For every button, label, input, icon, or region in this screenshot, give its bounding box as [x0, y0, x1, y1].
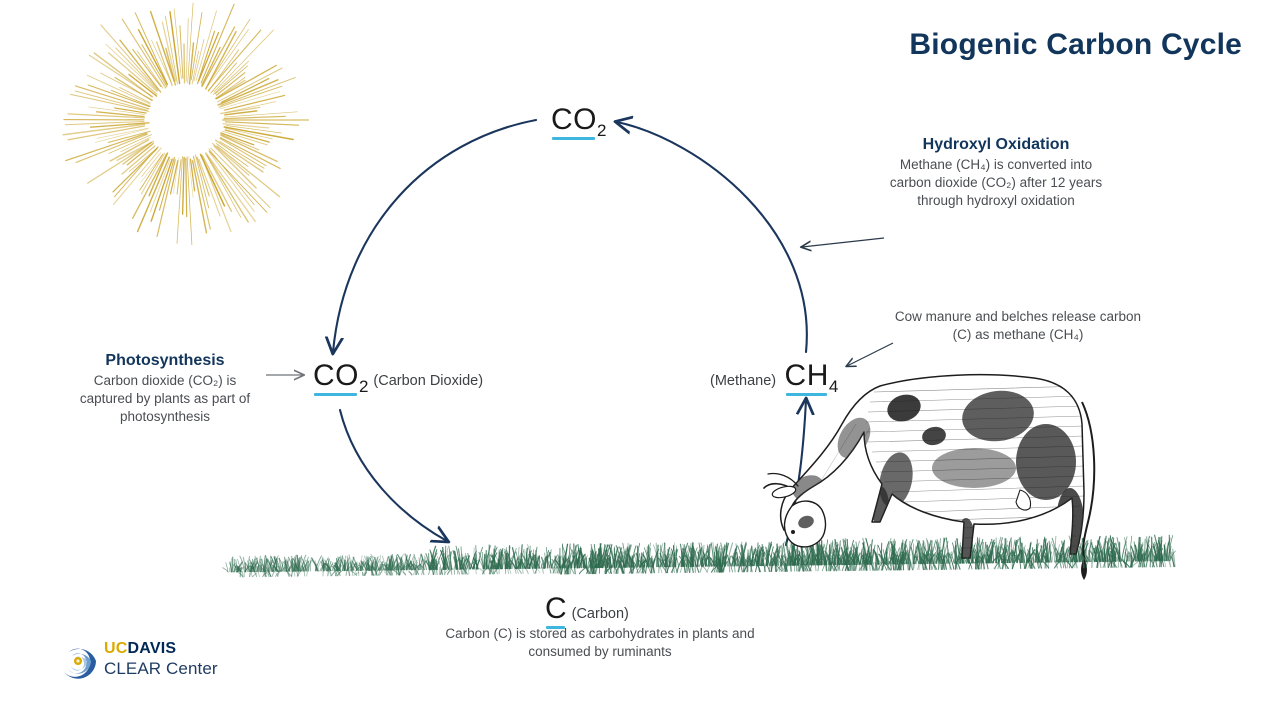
logo-line2: CLEAR Center — [104, 660, 218, 677]
co2-top-subscript: 2 — [597, 121, 607, 140]
co2-left-formula: CO — [313, 359, 359, 393]
page-title: Biogenic Carbon Cycle — [909, 28, 1242, 62]
clear-center-logo[interactable]: UCDAVIS CLEAR Center — [58, 641, 278, 685]
co2-left-caption: (Carbon Dioxide) — [373, 373, 483, 389]
node-co2-top: CO2 — [551, 103, 607, 141]
diagram-canvas: Biogenic Carbon Cycle Photosynthesis Car… — [0, 0, 1280, 720]
hydroxyl-oxidation-body: Methane (CH₄) is converted into carbon d… — [885, 156, 1107, 209]
callout-photosynthesis: Photosynthesis Carbon dioxide (CO₂) is c… — [70, 352, 260, 425]
photosynthesis-body: Carbon dioxide (CO₂) is captured by plan… — [70, 372, 260, 425]
logo-wordmark: UCDAVIS CLEAR Center — [104, 641, 218, 677]
node-ch4: (Methane) CH4 — [710, 359, 839, 397]
photosynthesis-heading: Photosynthesis — [70, 352, 260, 370]
callout-cow-methane: Cow manure and belches release carbon (C… — [885, 308, 1151, 344]
carbon-formula: C — [545, 592, 567, 626]
callout-hydroxyl-oxidation: Hydroxyl Oxidation Methane (CH₄) is conv… — [885, 136, 1107, 209]
ch4-subscript: 4 — [829, 377, 839, 396]
callout-carbon-storage: Carbon (C) is stored as carbohydrates in… — [440, 625, 760, 661]
hydroxyl-oxidation-heading: Hydroxyl Oxidation — [885, 136, 1107, 154]
node-carbon: C (Carbon) — [545, 592, 629, 626]
ch4-caption: (Methane) — [710, 373, 776, 389]
co2-left-subscript: 2 — [359, 377, 369, 396]
clear-center-swirl-icon — [58, 641, 98, 681]
ch4-formula: CH — [785, 359, 829, 393]
carbon-caption: (Carbon) — [572, 606, 629, 622]
node-co2-left: CO2 (Carbon Dioxide) — [313, 359, 483, 397]
co2-top-formula: CO — [551, 103, 597, 137]
logo-line1: UCDAVIS — [104, 641, 218, 657]
logo-davis: DAVIS — [128, 640, 177, 657]
logo-uc: UC — [104, 640, 128, 657]
